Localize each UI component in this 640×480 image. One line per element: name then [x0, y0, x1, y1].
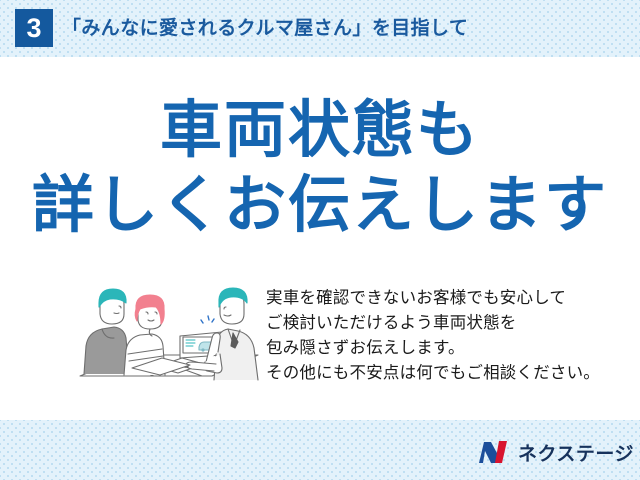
advertisement-banner: 3 「みんなに愛されるクルマ屋さん」を目指して 車両状態も 詳しくお伝えします	[0, 0, 640, 480]
headline-line-2: 詳しくお伝えします	[0, 167, 640, 245]
body-copy-line-1: 実車を確認できないお客様でも安心して	[266, 286, 600, 311]
body-copy: 実車を確認できないお客様でも安心して ご検討いただけるよう車両状態を 包み隠さず…	[266, 286, 600, 386]
consultation-illustration-svg	[62, 276, 262, 392]
consultation-illustration	[62, 276, 262, 392]
nextage-n-mark-icon	[478, 439, 512, 465]
header-title: 「みんなに愛されるクルマ屋さん」を目指して	[62, 13, 468, 40]
body-copy-line-3: 包み隠さずお伝えします。	[266, 336, 600, 361]
nextage-logo-text: ネクステージ	[518, 439, 634, 466]
body-copy-line-4: その他にも不安点は何でもご相談ください。	[266, 361, 600, 386]
body-copy-line-2: ご検討いただけるよう車両状態を	[266, 311, 600, 336]
step-number-badge: 3	[15, 9, 53, 47]
nextage-logo: ネクステージ	[478, 437, 628, 467]
headline-line-1: 車両状態も	[0, 95, 640, 167]
headline: 車両状態も 詳しくお伝えします	[0, 95, 640, 245]
